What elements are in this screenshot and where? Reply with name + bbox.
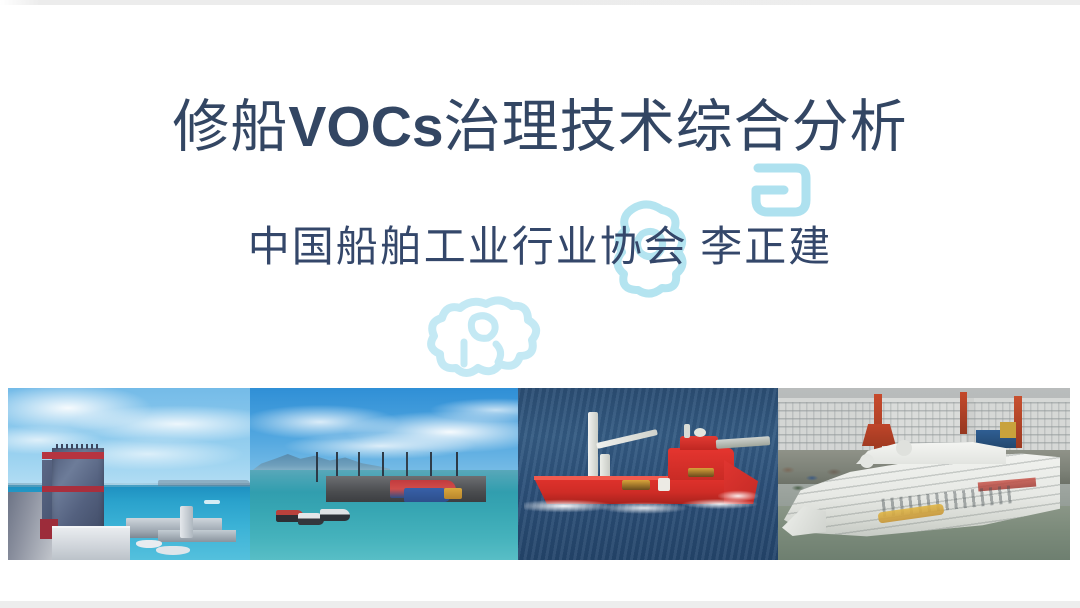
photo3-bridge bbox=[680, 436, 718, 450]
photo3-bow-spray bbox=[718, 488, 774, 504]
photo4-funnel-a bbox=[896, 440, 912, 456]
title-suffix: 治理技术综合分析 bbox=[444, 96, 908, 159]
top-edge-band bbox=[0, 0, 1080, 5]
doodle-bubble-left-icon bbox=[420, 290, 556, 382]
photo-shipyard-vessels bbox=[250, 388, 518, 560]
photo-red-offshore-vessel bbox=[518, 388, 778, 560]
title-prefix: 修船 bbox=[172, 96, 288, 159]
photo-cruise-ship-repair-dock bbox=[778, 388, 1070, 560]
bottom-edge-band bbox=[0, 601, 1080, 608]
doodle-rounded-square-icon bbox=[744, 160, 818, 222]
photo2-boat-3 bbox=[320, 509, 350, 521]
photo3-hull-marking bbox=[658, 478, 670, 491]
photo-strip bbox=[8, 388, 1070, 560]
photo1-distant-land bbox=[158, 480, 250, 486]
photo4-gantry-crane-b bbox=[960, 392, 967, 434]
photo1-boat-b bbox=[156, 546, 190, 555]
photo1-low-building bbox=[52, 526, 130, 560]
photo1-tower-red-band-top bbox=[42, 452, 104, 459]
photo3-radar-dome bbox=[694, 428, 706, 437]
photo3-antenna bbox=[684, 424, 690, 438]
photo3-window-panel-b bbox=[688, 468, 714, 477]
photo3-window-panel-a bbox=[622, 480, 650, 490]
photo2-moored-boats bbox=[276, 504, 354, 526]
photo1-pier-secondary bbox=[158, 530, 236, 542]
photo1-tower-red-band-mid bbox=[42, 486, 104, 492]
photo4-funnel-b bbox=[860, 454, 874, 468]
photo1-tower bbox=[52, 448, 104, 538]
photo1-silo bbox=[180, 506, 193, 538]
title-latin-vocs: VOCs bbox=[288, 95, 443, 159]
page-subtitle: 中国船舶工业行业协会 李正建 bbox=[0, 222, 1080, 274]
photo1-distant-ship bbox=[204, 500, 220, 504]
photo1-roof-rail bbox=[56, 444, 100, 449]
photo4-yellow-crane-part bbox=[1000, 422, 1016, 438]
photo-coastal-city-tower bbox=[8, 388, 250, 560]
presentation-slide: 修船VOCs治理技术综合分析 中国船舶工业行业协会 李正建 bbox=[0, 0, 1080, 608]
photo2-yellow-barge bbox=[444, 488, 462, 499]
page-title: 修船VOCs治理技术综合分析 bbox=[0, 95, 1080, 160]
